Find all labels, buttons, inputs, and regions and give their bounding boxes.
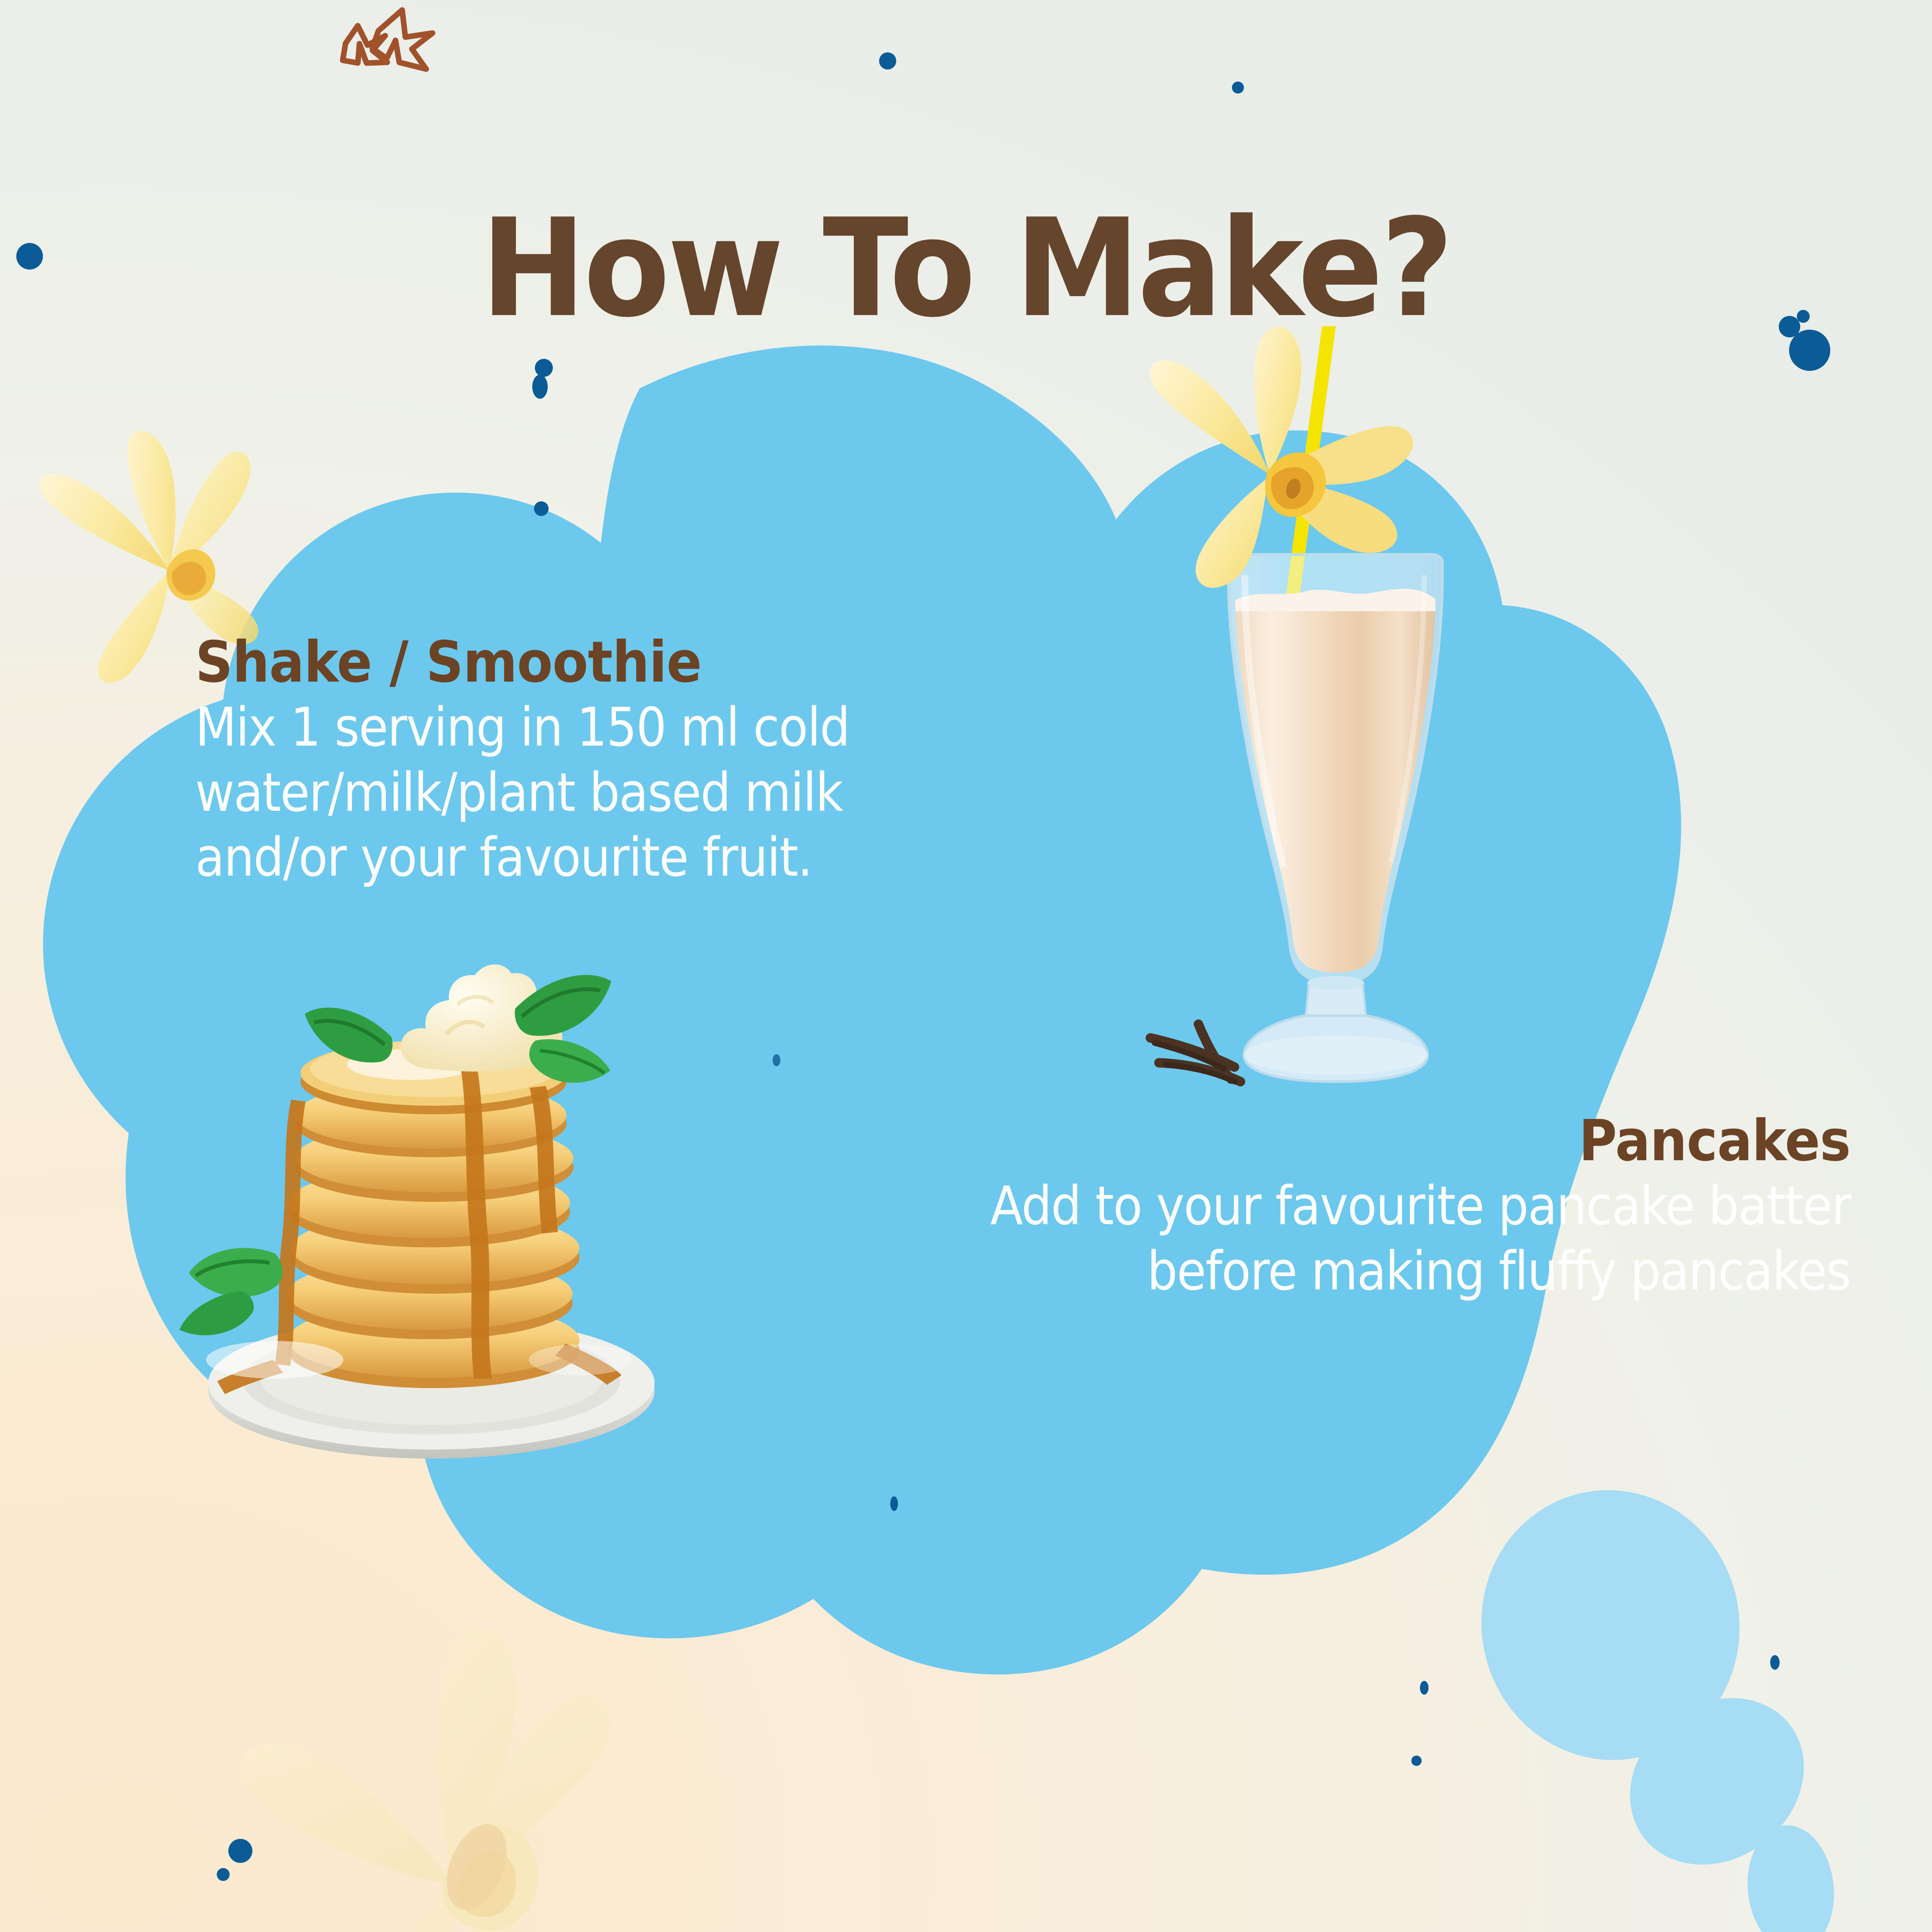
page-title: How To Make? bbox=[68, 201, 1865, 337]
decor-dot bbox=[1411, 1756, 1422, 1766]
section-pancakes-body: Add to your favourite pancake batter bef… bbox=[977, 1174, 1850, 1304]
decor-dot bbox=[1232, 82, 1244, 94]
decor-dot bbox=[1420, 1681, 1429, 1695]
decor-dot bbox=[532, 375, 548, 399]
stars-icon bbox=[338, 7, 435, 69]
decor-dot bbox=[534, 501, 549, 516]
decor-dot bbox=[535, 359, 553, 377]
flower-bottom-left-icon bbox=[228, 1615, 644, 1932]
section-pancakes-heading: Pancakes bbox=[958, 1112, 1850, 1171]
section-shake: Shake / Smoothie Mix 1 serving in 150 ml… bbox=[195, 633, 1097, 890]
decor-dot bbox=[773, 1054, 780, 1066]
section-pancakes: Pancakes Add to your favourite pancake b… bbox=[880, 1112, 1850, 1304]
decor-dot bbox=[228, 1839, 252, 1863]
section-shake-heading: Shake / Smoothie bbox=[195, 633, 1025, 692]
poster-canvas: How To Make? Shake / Smoothie Mix 1 serv… bbox=[0, 0, 1932, 1932]
decor-dot bbox=[1770, 1655, 1780, 1670]
decor-dot bbox=[890, 1496, 898, 1511]
decor-dot bbox=[879, 52, 896, 70]
section-shake-body: Mix 1 serving in 150 ml cold water/milk/… bbox=[195, 695, 1007, 890]
decor-dot bbox=[16, 243, 43, 270]
decor-dot bbox=[217, 1868, 230, 1881]
